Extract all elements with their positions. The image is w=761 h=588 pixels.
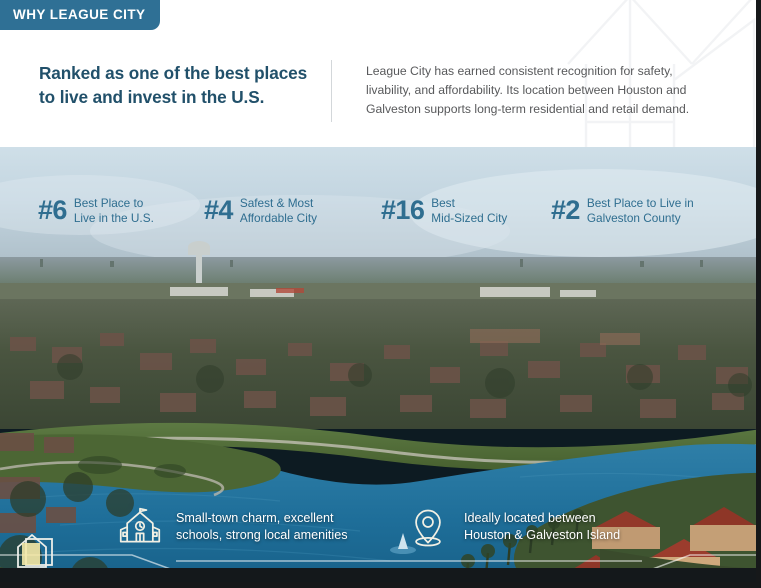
stat-label-line1: Best Place to Live in	[587, 196, 694, 210]
stat-label-line1: Safest & Most	[240, 196, 313, 210]
stat-item: #4 Safest & Most Affordable City	[204, 196, 317, 225]
rankings-row: #6 Best Place to Live in the U.S. #4 Saf…	[0, 196, 756, 248]
stat-number: #4	[204, 197, 233, 224]
page-title: Ranked as one of the best places to live…	[39, 62, 324, 110]
stat-label: Safest & Most Affordable City	[240, 196, 317, 225]
stat-label-line2: Mid-Sized City	[431, 211, 507, 225]
stat-label: Best Mid-Sized City	[431, 196, 507, 225]
feature-text: Ideally located between Houston & Galves…	[464, 510, 620, 543]
corner-logo	[12, 521, 68, 573]
feature-item: Small-town charm, excellent schools, str…	[118, 505, 348, 549]
stat-label-line1: Best Place to	[74, 196, 144, 210]
stat-number: #6	[38, 197, 67, 224]
feature-text: Small-town charm, excellent schools, str…	[176, 510, 348, 543]
stat-label: Best Place to Live in Galveston County	[587, 196, 694, 225]
stat-item: #16 Best Mid-Sized City	[381, 196, 507, 225]
intro-body-text: League City has earned consistent recogn…	[366, 62, 706, 119]
feature-text-line2: schools, strong local amenities	[176, 528, 348, 542]
section-tag: WHY LEAGUE CITY	[0, 0, 160, 30]
stat-number: #2	[551, 197, 580, 224]
stat-item: #6 Best Place to Live in the U.S.	[38, 196, 154, 225]
stat-number: #16	[381, 197, 424, 224]
bottom-bar	[0, 568, 756, 582]
feature-text-line2: Houston & Galveston Island	[464, 528, 620, 542]
school-icon	[118, 505, 162, 549]
stat-label-line2: Affordable City	[240, 211, 317, 225]
stat-label-line2: Live in the U.S.	[74, 211, 154, 225]
stat-item: #2 Best Place to Live in Galveston Count…	[551, 196, 694, 225]
feature-text-line1: Ideally located between	[464, 511, 596, 525]
stat-label-line2: Galveston County	[587, 211, 681, 225]
stat-label-line1: Best	[431, 196, 455, 210]
feature-text-line1: Small-town charm, excellent	[176, 511, 333, 525]
why-league-city-slide: WHY LEAGUE CITY Ranked as one of the bes…	[0, 0, 761, 588]
intro-panel: WHY LEAGUE CITY Ranked as one of the bes…	[0, 0, 756, 147]
features-row: Small-town charm, excellent schools, str…	[0, 505, 756, 563]
feature-item: Ideally located between Houston & Galves…	[406, 505, 620, 549]
map-pin-icon	[406, 505, 450, 549]
vertical-divider	[331, 60, 332, 122]
stat-label: Best Place to Live in the U.S.	[74, 196, 154, 225]
